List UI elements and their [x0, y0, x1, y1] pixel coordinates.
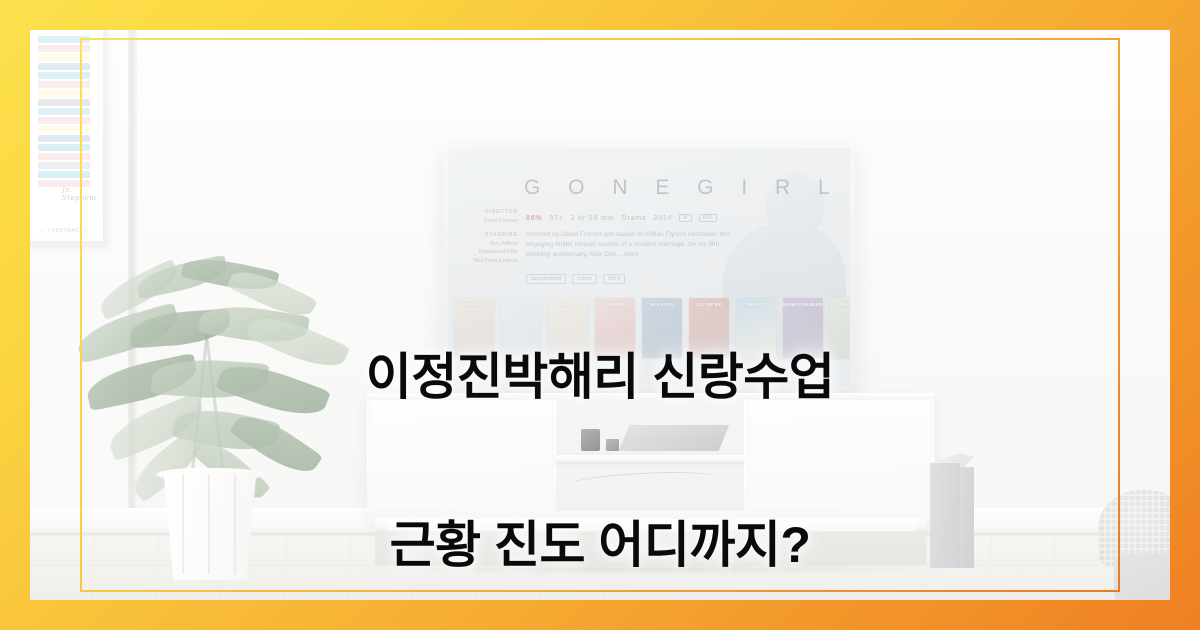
- headline-line-2: 근황 진도 어디까지?: [0, 517, 1200, 573]
- artwork-stripe: [38, 99, 90, 106]
- artwork-stripe: [38, 135, 90, 142]
- tv-match: 97+: [549, 215, 563, 222]
- artwork-stripe: [38, 81, 90, 88]
- tv-genre: Drama: [622, 215, 647, 222]
- tv-director-label: DIRECTOR: [456, 208, 518, 217]
- tv-runtime: 2 hr 29 min: [571, 215, 615, 222]
- headline-line-1: 이정진박해리 신랑수업: [0, 349, 1200, 405]
- headline: 이정진박해리 신랑수업 근황 진도 어디까지?: [0, 237, 1200, 630]
- artwork-stripe: [38, 54, 90, 61]
- tv-meta-row: 88% 97+ 2 hr 29 min Drama 2014 R HD: [526, 214, 717, 222]
- tv-year: 2014: [654, 215, 673, 222]
- tv-rating-pill: R: [679, 214, 692, 222]
- artwork-signature: Jo. Stephenson: [62, 186, 96, 202]
- artwork-stripe: [38, 36, 90, 43]
- artwork-stripe: [38, 153, 90, 160]
- artwork-stripe: [38, 117, 90, 124]
- framed-artwork: Jo. Stephenson — ( ABSTRACT ): [30, 30, 106, 244]
- artwork-stripe: [38, 108, 90, 115]
- tv-movie-title: G O N E G I R L: [524, 176, 841, 200]
- artwork-stripe: [38, 171, 90, 178]
- artwork-stripe: [38, 63, 90, 70]
- artwork-mat: Jo. Stephenson — ( ABSTRACT ): [32, 36, 96, 234]
- tv-hd-pill: HD: [699, 214, 717, 222]
- artwork-caption: — ( ABSTRACT ): [40, 228, 87, 234]
- thumbnail-card: Jo. Stephenson — ( ABSTRACT ): [0, 0, 1200, 630]
- artwork-stripes: [38, 36, 90, 174]
- artwork-stripe: [38, 162, 90, 169]
- artwork-stripe: [38, 144, 90, 151]
- artwork-stripe: [38, 72, 90, 79]
- tv-director-name: David Fincher: [483, 218, 518, 224]
- artwork-stripe: [38, 126, 90, 133]
- tv-score: 88%: [526, 215, 542, 222]
- artwork-stripe: [38, 45, 90, 52]
- artwork-stripe: [38, 90, 90, 97]
